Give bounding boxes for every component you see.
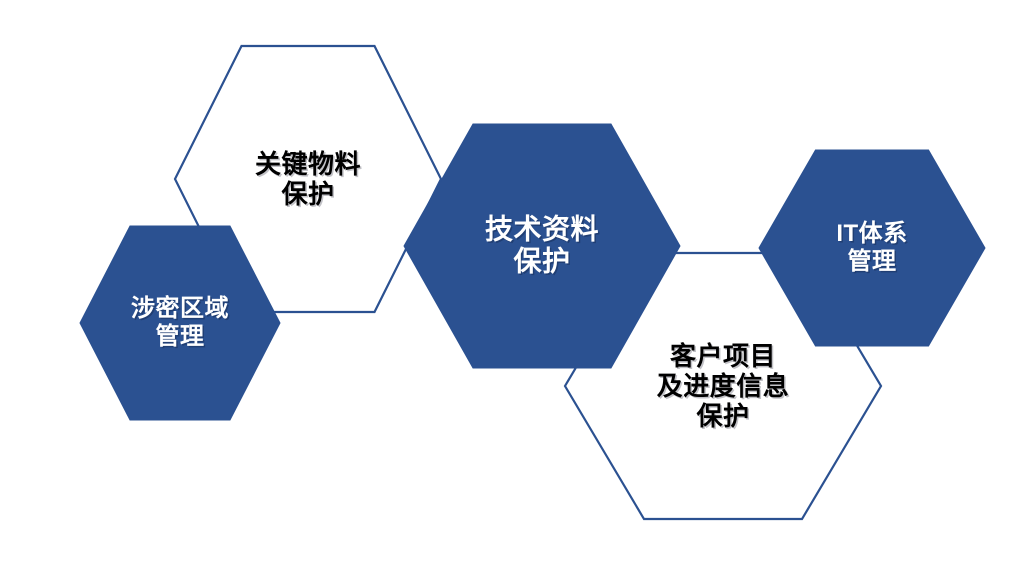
- hexagon-diagram: 涉密区域 管理关键物料 保护技术资料 保护客户项目 及进度信息 保护IT体系 管…: [0, 0, 1036, 564]
- hexagon-shapes-layer: [0, 0, 1036, 564]
